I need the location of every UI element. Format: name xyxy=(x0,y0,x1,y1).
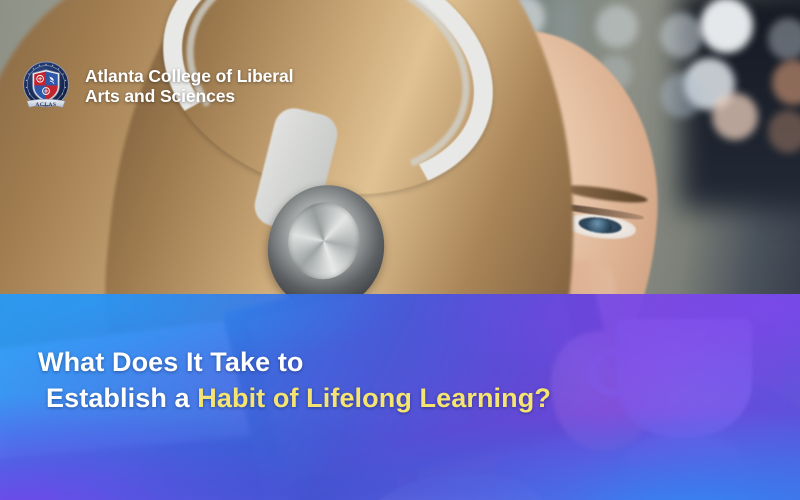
bokeh-light xyxy=(712,93,758,141)
bokeh-light xyxy=(660,13,703,58)
bokeh-light xyxy=(596,5,638,48)
bokeh-light xyxy=(700,0,753,53)
headline: What Does It Take to Establish a Habit o… xyxy=(38,344,551,416)
headline-line-2-prefix: Establish a xyxy=(46,383,197,413)
hero-banner: What Does It Take to Establish a Habit o… xyxy=(0,0,800,500)
bokeh-light xyxy=(660,73,703,118)
bokeh-light xyxy=(768,18,800,61)
college-seal-icon: ACLAS xyxy=(18,58,74,114)
svg-text:ACLAS: ACLAS xyxy=(35,102,56,108)
logo-lockup[interactable]: ACLAS Atlanta College of Liberal Arts an… xyxy=(18,58,293,114)
headline-line-1: What Does It Take to xyxy=(38,344,551,380)
headline-question-mark: ? xyxy=(534,383,551,413)
bokeh-light xyxy=(768,110,800,153)
brand-name: Atlanta College of Liberal Arts and Scie… xyxy=(85,66,293,106)
headline-line-2: Establish a Habit of Lifelong Learning? xyxy=(38,380,551,416)
headline-accent-phrase: Habit of Lifelong Learning xyxy=(197,383,534,413)
